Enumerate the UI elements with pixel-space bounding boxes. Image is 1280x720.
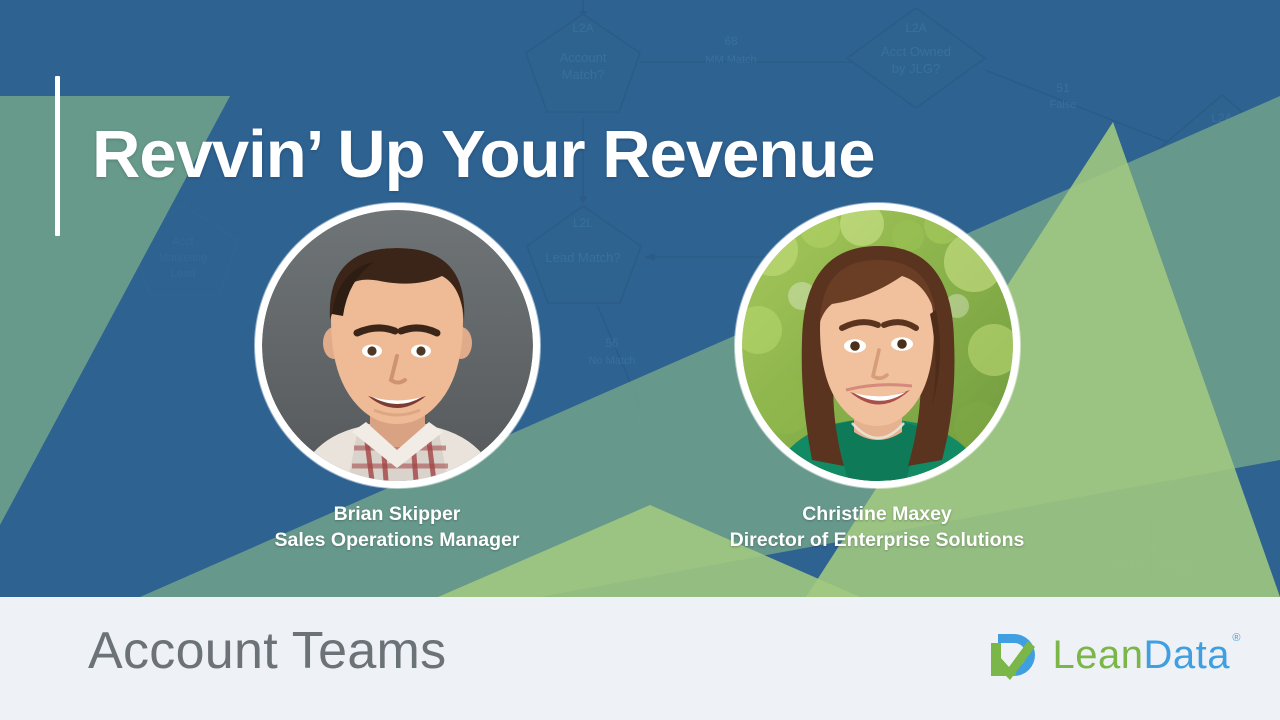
leandata-logo-icon: [984, 627, 1042, 683]
headshot-illustration: [262, 210, 533, 481]
speaker-card-brian-skipper: Brian Skipper Sales Operations Manager: [237, 203, 557, 553]
logo-word-lean: Lean: [1053, 633, 1144, 677]
slide-footer: Account Teams LeanData®: [0, 597, 1280, 720]
speaker-name: Brian Skipper: [237, 502, 557, 528]
title-accent-bar: [55, 76, 60, 236]
slide-hero: L2A Account Match? 68 MM Match L2A Acct …: [0, 0, 1280, 597]
headshot-illustration: [742, 210, 1013, 481]
logo-registered-mark: ®: [1232, 633, 1241, 644]
presentation-slide: L2A Account Match? 68 MM Match L2A Acct …: [0, 0, 1280, 720]
speaker-role: Sales Operations Manager: [237, 528, 557, 554]
speaker-name: Christine Maxey: [717, 502, 1037, 528]
speaker-role: Director of Enterprise Solutions: [717, 528, 1037, 554]
green-overlay-shapes: [0, 0, 1280, 597]
avatar: [255, 203, 540, 488]
avatar: [735, 203, 1020, 488]
leandata-logo: LeanData®: [984, 627, 1230, 683]
avatar-photo-brian-skipper: [262, 210, 533, 481]
logo-word-data: Data: [1144, 633, 1231, 677]
page-title: Revvin’ Up Your Revenue: [92, 120, 875, 190]
footer-title: Account Teams: [88, 621, 446, 681]
avatar-photo-christine-maxey: [742, 210, 1013, 481]
leandata-logo-wordmark: LeanData®: [1053, 635, 1230, 675]
speaker-card-christine-maxey: Christine Maxey Director of Enterprise S…: [717, 203, 1037, 553]
